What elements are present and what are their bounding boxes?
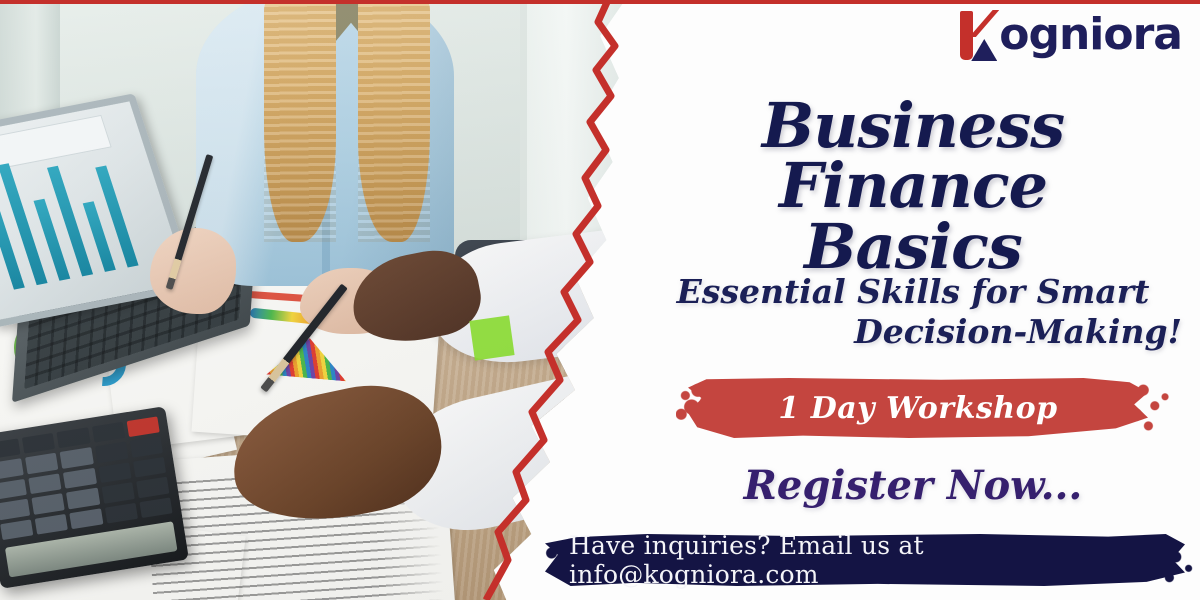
brand-name: ogniora [999, 13, 1182, 57]
hero-photo [0, 0, 625, 600]
hair-left [264, 0, 336, 242]
register-cta[interactable]: Register Now... [630, 462, 1196, 509]
desk-calculator [0, 406, 189, 589]
workshop-badge-label: 1 Day Workshop [688, 378, 1148, 438]
brand-logo[interactable]: ogniora [957, 8, 1182, 62]
subtitle-line-2: Decision-Making! [630, 312, 1196, 352]
office-scene [0, 0, 625, 600]
sticky-note [469, 315, 514, 360]
hair-right [358, 0, 430, 242]
page-title: Business Finance Basics [630, 96, 1196, 277]
workshop-badge: 1 Day Workshop [688, 378, 1148, 438]
k-monogram-icon [957, 9, 1003, 61]
contact-bar-label: Have inquiries? Email us at info@kognior… [545, 534, 1185, 586]
woman-hand-left [150, 228, 236, 314]
title-line-1: Business Finance [630, 96, 1196, 215]
top-accent-rule [0, 0, 1200, 4]
calculator-keypad [0, 416, 173, 540]
page-subtitle: Essential Skills for Smart Decision-Maki… [630, 272, 1196, 353]
contact-bar: Have inquiries? Email us at info@kognior… [545, 534, 1185, 586]
content-column: ogniora Business Finance Basics Essentia… [620, 0, 1200, 600]
subtitle-line-1: Essential Skills for Smart [630, 272, 1196, 312]
event-banner: ogniora Business Finance Basics Essentia… [0, 0, 1200, 600]
title-line-2: Basics [630, 217, 1196, 277]
